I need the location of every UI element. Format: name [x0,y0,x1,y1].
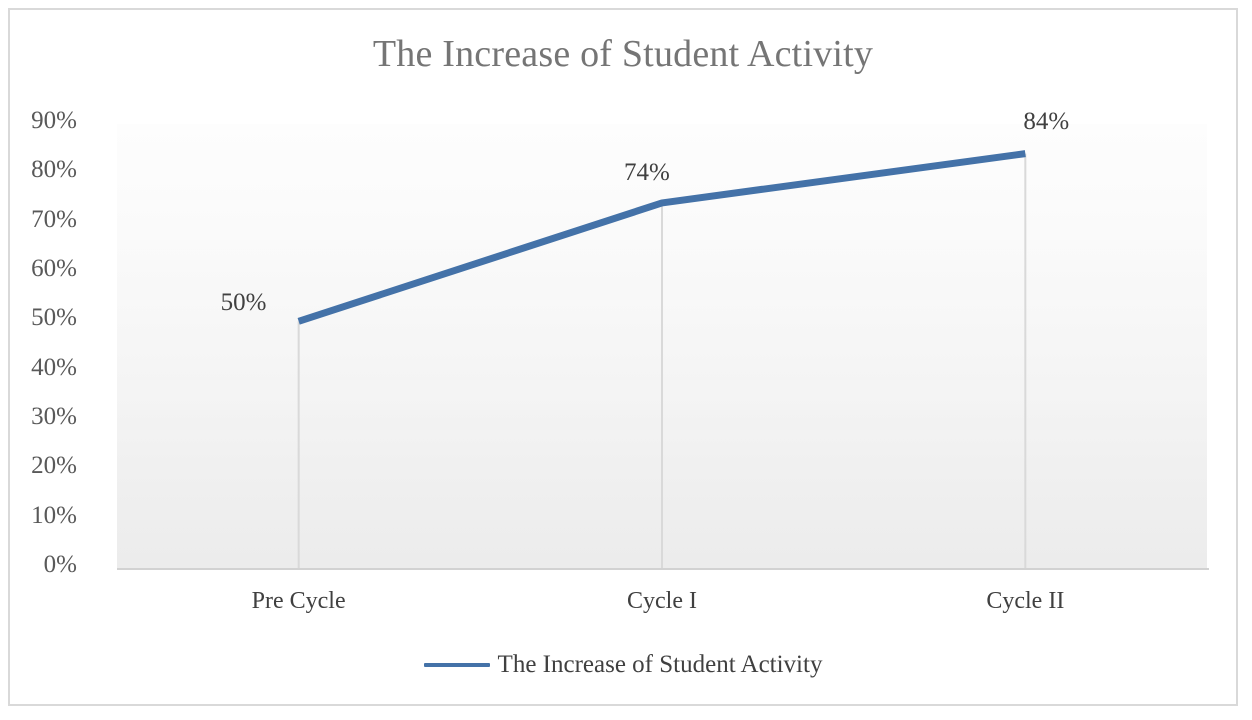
legend-line-swatch-icon [424,663,490,667]
y-axis-tick-label: 40% [0,354,77,382]
y-axis-tick-label: 30% [0,403,77,431]
chart-title: The Increase of Student Activity [10,32,1236,76]
chart-legend[interactable]: The Increase of Student Activity [10,651,1236,679]
data-point-value-label: 50% [221,289,267,317]
y-axis-tick-label: 10% [0,502,77,530]
y-axis-tick-label: 20% [0,452,77,480]
y-axis-tick-label: 0% [0,551,77,579]
x-axis-category-label: Cycle I [542,588,782,615]
data-point-value-label: 84% [1023,108,1069,136]
plot-area [117,124,1207,568]
y-axis-tick-label: 80% [0,156,77,184]
chart-container: The Increase of Student Activity 90%80%7… [8,8,1238,706]
data-point-value-label: 74% [624,159,670,187]
x-axis-category-label: Cycle II [905,588,1145,615]
y-axis-tick-label: 90% [0,107,77,135]
y-axis-tick-label: 50% [0,304,77,332]
y-axis-tick-label: 60% [0,255,77,283]
x-axis-line [117,568,1209,570]
y-axis-tick-label: 70% [0,206,77,234]
x-axis-category-label: Pre Cycle [179,588,419,615]
legend-entry-label: The Increase of Student Activity [498,651,823,679]
